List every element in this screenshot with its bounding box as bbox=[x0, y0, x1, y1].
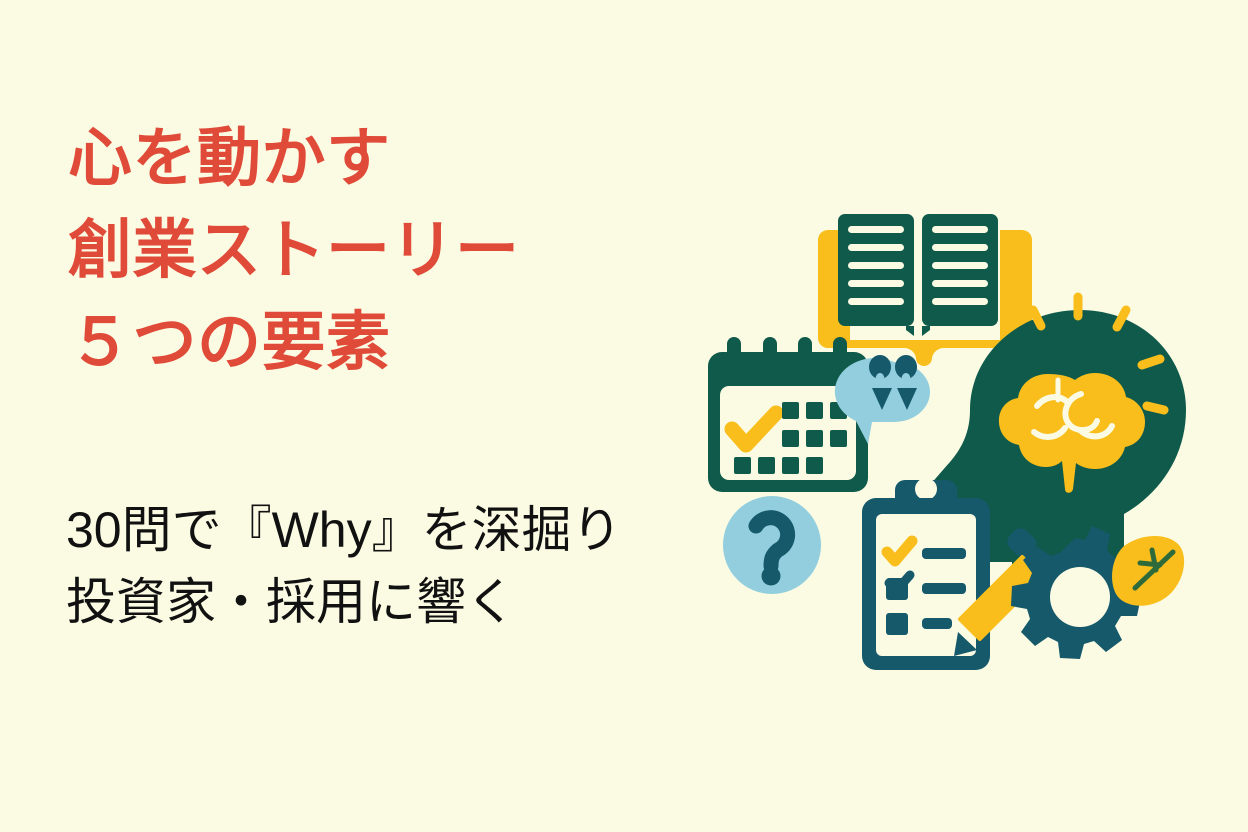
calendar-icon bbox=[708, 337, 868, 492]
page-subtitle: 30問で『Why』を深掘り 投資家・採用に響く bbox=[66, 494, 786, 638]
page-title: 心を動かす 創業ストーリー ５つの要素 bbox=[68, 112, 718, 388]
subtitle-line-2: 投資家・採用に響く bbox=[66, 566, 786, 638]
title-line-2: 創業ストーリー bbox=[68, 204, 718, 296]
subtitle-line-1: 30問で『Why』を深掘り bbox=[66, 494, 786, 566]
title-line-1: 心を動かす bbox=[68, 112, 718, 204]
title-line-3: ５つの要素 bbox=[68, 296, 718, 388]
poster-canvas: 心を動かす 創業ストーリー ５つの要素 30問で『Why』を深掘り 投資家・採用… bbox=[0, 0, 1248, 832]
question-mark-icon bbox=[723, 496, 821, 594]
clipboard-checklist-icon bbox=[862, 478, 990, 670]
illustration-cluster bbox=[690, 180, 1190, 690]
